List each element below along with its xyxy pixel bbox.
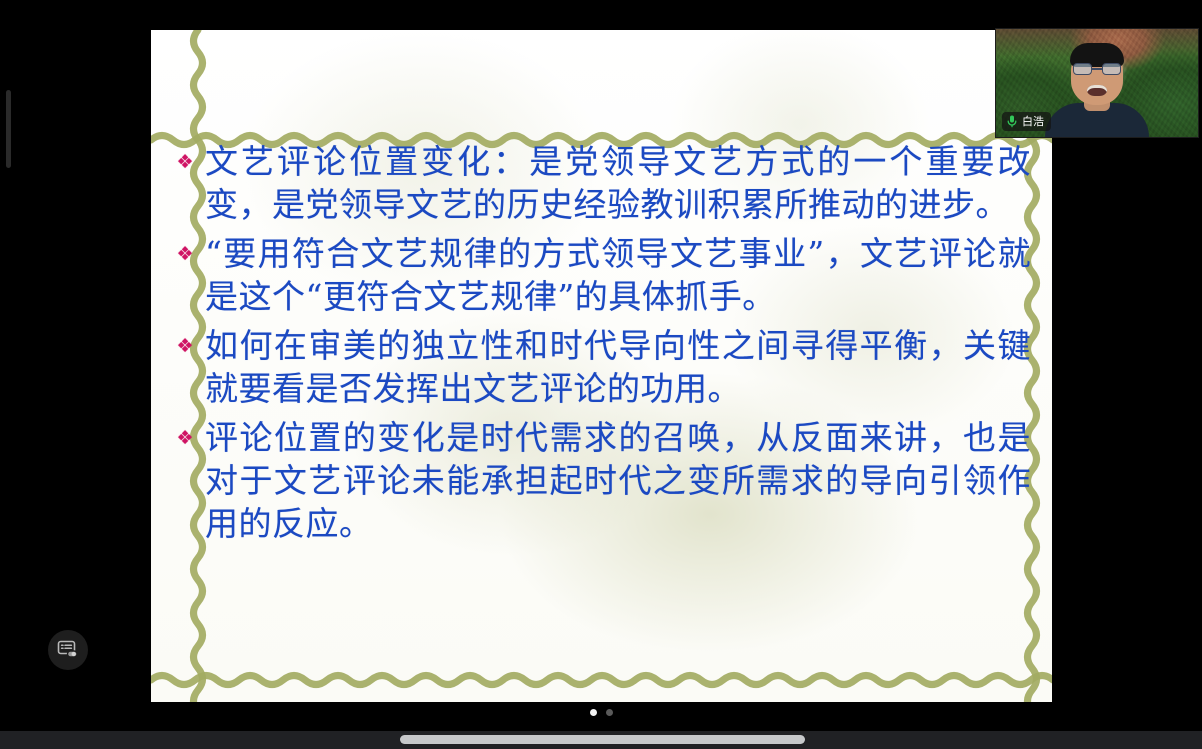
participant-name: 白浩 xyxy=(1022,112,1044,131)
avatar-glasses-left xyxy=(1073,63,1092,75)
microphone-icon xyxy=(1007,115,1017,128)
slide-bullet-text: 评论位置的变化是时代需求的召唤，从反面来讲，也是对于文艺评论未能承担起时代之变所… xyxy=(205,416,1045,545)
collapsed-panel-handle[interactable] xyxy=(6,90,11,168)
shared-screen-stage[interactable]: ❖ 文艺评论位置变化：是党领导文艺方式的一个重要改变，是党领导文艺的历史经验教训… xyxy=(151,30,1052,702)
participant-video-tile[interactable]: 白浩 xyxy=(995,28,1199,138)
diamond-bullet-icon: ❖ xyxy=(165,324,205,368)
participant-avatar xyxy=(1045,53,1149,137)
meeting-screen-share-view: ❖ 文艺评论位置变化：是党领导文艺方式的一个重要改变，是党领导文艺的历史经验教训… xyxy=(0,0,1202,749)
slide-bullet-text: 文艺评论位置变化：是党领导文艺方式的一个重要改变，是党领导文艺的历史经验教训积累… xyxy=(205,140,1045,226)
slide-bullet-item: ❖ “要用符合文艺规律的方式领导文艺事业”，文艺评论就是这个“更符合文艺规律”的… xyxy=(165,232,1045,318)
slide-control-button[interactable] xyxy=(48,630,88,670)
diamond-bullet-icon: ❖ xyxy=(165,416,205,460)
diamond-bullet-icon: ❖ xyxy=(165,232,205,276)
slide-control-icon xyxy=(57,639,79,661)
slide-bullet-text: “要用符合文艺规律的方式领导文艺事业”，文艺评论就是这个“更符合文艺规律”的具体… xyxy=(205,232,1045,318)
diamond-bullet-icon: ❖ xyxy=(165,140,205,184)
slide-bullet-list: ❖ 文艺评论位置变化：是党领导文艺方式的一个重要改变，是党领导文艺的历史经验教训… xyxy=(165,140,1045,551)
slide-bullet-item: ❖ 如何在审美的独立性和时代导向性之间寻得平衡，关键就要看是否发挥出文艺评论的功… xyxy=(165,324,1045,410)
horizontal-scrollbar-thumb[interactable] xyxy=(400,735,805,744)
avatar-mouth xyxy=(1087,85,1107,96)
slide-pagination xyxy=(0,709,1202,716)
horizontal-scrollbar-track[interactable] xyxy=(0,731,1202,749)
avatar-glasses-bridge xyxy=(1092,68,1102,70)
slide-bullet-item: ❖ 文艺评论位置变化：是党领导文艺方式的一个重要改变，是党领导文艺的历史经验教训… xyxy=(165,140,1045,226)
pagination-dot-2[interactable] xyxy=(606,709,613,716)
pagination-dot-1[interactable] xyxy=(590,709,597,716)
slide-bullet-text: 如何在审美的独立性和时代导向性之间寻得平衡，关键就要看是否发挥出文艺评论的功用。 xyxy=(205,324,1045,410)
slide-bullet-item: ❖ 评论位置的变化是时代需求的召唤，从反面来讲，也是对于文艺评论未能承担起时代之… xyxy=(165,416,1045,545)
participant-name-chip: 白浩 xyxy=(1002,112,1051,131)
avatar-glasses-right xyxy=(1102,63,1121,75)
